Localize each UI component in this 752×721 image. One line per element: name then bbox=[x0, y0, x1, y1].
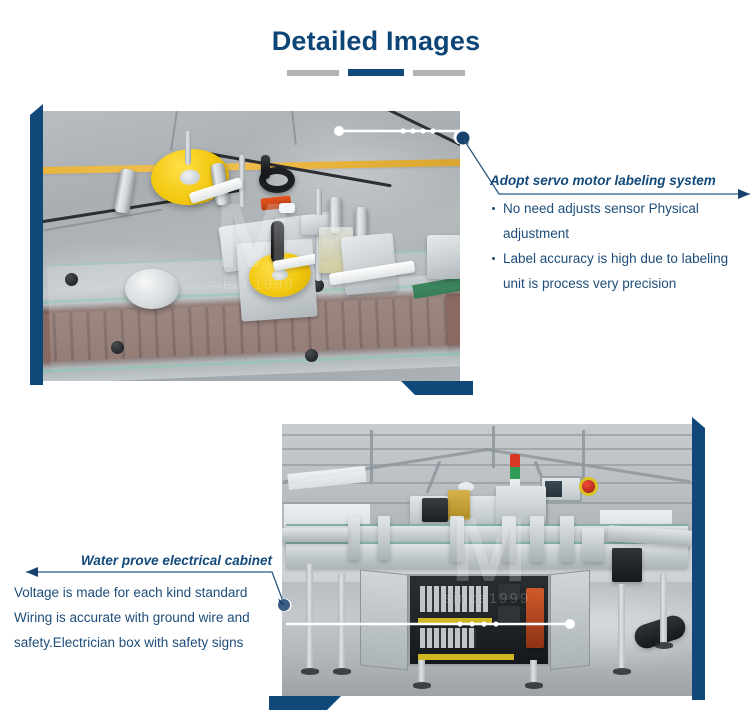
detailed-images-page: Detailed Images bbox=[0, 0, 752, 721]
emergency-stop-button[interactable] bbox=[582, 480, 595, 493]
heading-rule-center bbox=[348, 69, 404, 76]
photo1-surface: M since1999 bbox=[43, 111, 460, 381]
callout2-title: Water prove electrical cabinet bbox=[14, 552, 276, 570]
section-heading: Detailed Images bbox=[0, 24, 752, 76]
photo1-bottom-right-accent bbox=[401, 381, 473, 395]
photo2-right-accent-bar bbox=[692, 428, 705, 700]
callout1-bullets: No need adjusts sensor Physical adjustme… bbox=[490, 196, 748, 296]
callout-servo-motor: Adopt servo motor labeling system No nee… bbox=[490, 172, 748, 296]
callout1-bullet-1: No need adjusts sensor Physical adjustme… bbox=[490, 196, 748, 246]
callout1-bullet-2: Label accuracy is high due to labeling u… bbox=[490, 246, 748, 296]
heading-rule-group bbox=[0, 69, 752, 76]
cabinet-door-right[interactable] bbox=[550, 570, 590, 670]
callout1-title: Adopt servo motor labeling system bbox=[490, 172, 748, 189]
electrical-cabinet[interactable] bbox=[408, 574, 550, 666]
callout2-line-3: safety.Electrician box with safety signs bbox=[14, 630, 276, 655]
page-title: Detailed Images bbox=[0, 24, 752, 58]
callout2-paragraph: Voltage is made for each kind standard W… bbox=[14, 580, 276, 655]
cabinet-door-left[interactable] bbox=[360, 569, 408, 670]
photo2-bottom-left-accent bbox=[269, 696, 341, 710]
heading-rule-left bbox=[287, 70, 339, 76]
heading-rule-right bbox=[413, 70, 465, 76]
photo-electrical-cabinet-machine: M since1999 bbox=[282, 424, 692, 696]
round-gauge bbox=[125, 269, 179, 309]
photo1-left-accent-bar bbox=[30, 115, 43, 385]
callout2-line-1: Voltage is made for each kind standard bbox=[14, 580, 276, 605]
hmi-touch-panel[interactable] bbox=[540, 476, 582, 502]
callout-water-prove-cabinet: Water prove electrical cabinet Voltage i… bbox=[14, 552, 276, 655]
callout2-line-2: Wiring is accurate with ground wire and bbox=[14, 605, 276, 630]
photo2-surface: M since1999 bbox=[282, 424, 692, 696]
photo-servo-labeling-unit: M since1999 bbox=[43, 111, 460, 381]
